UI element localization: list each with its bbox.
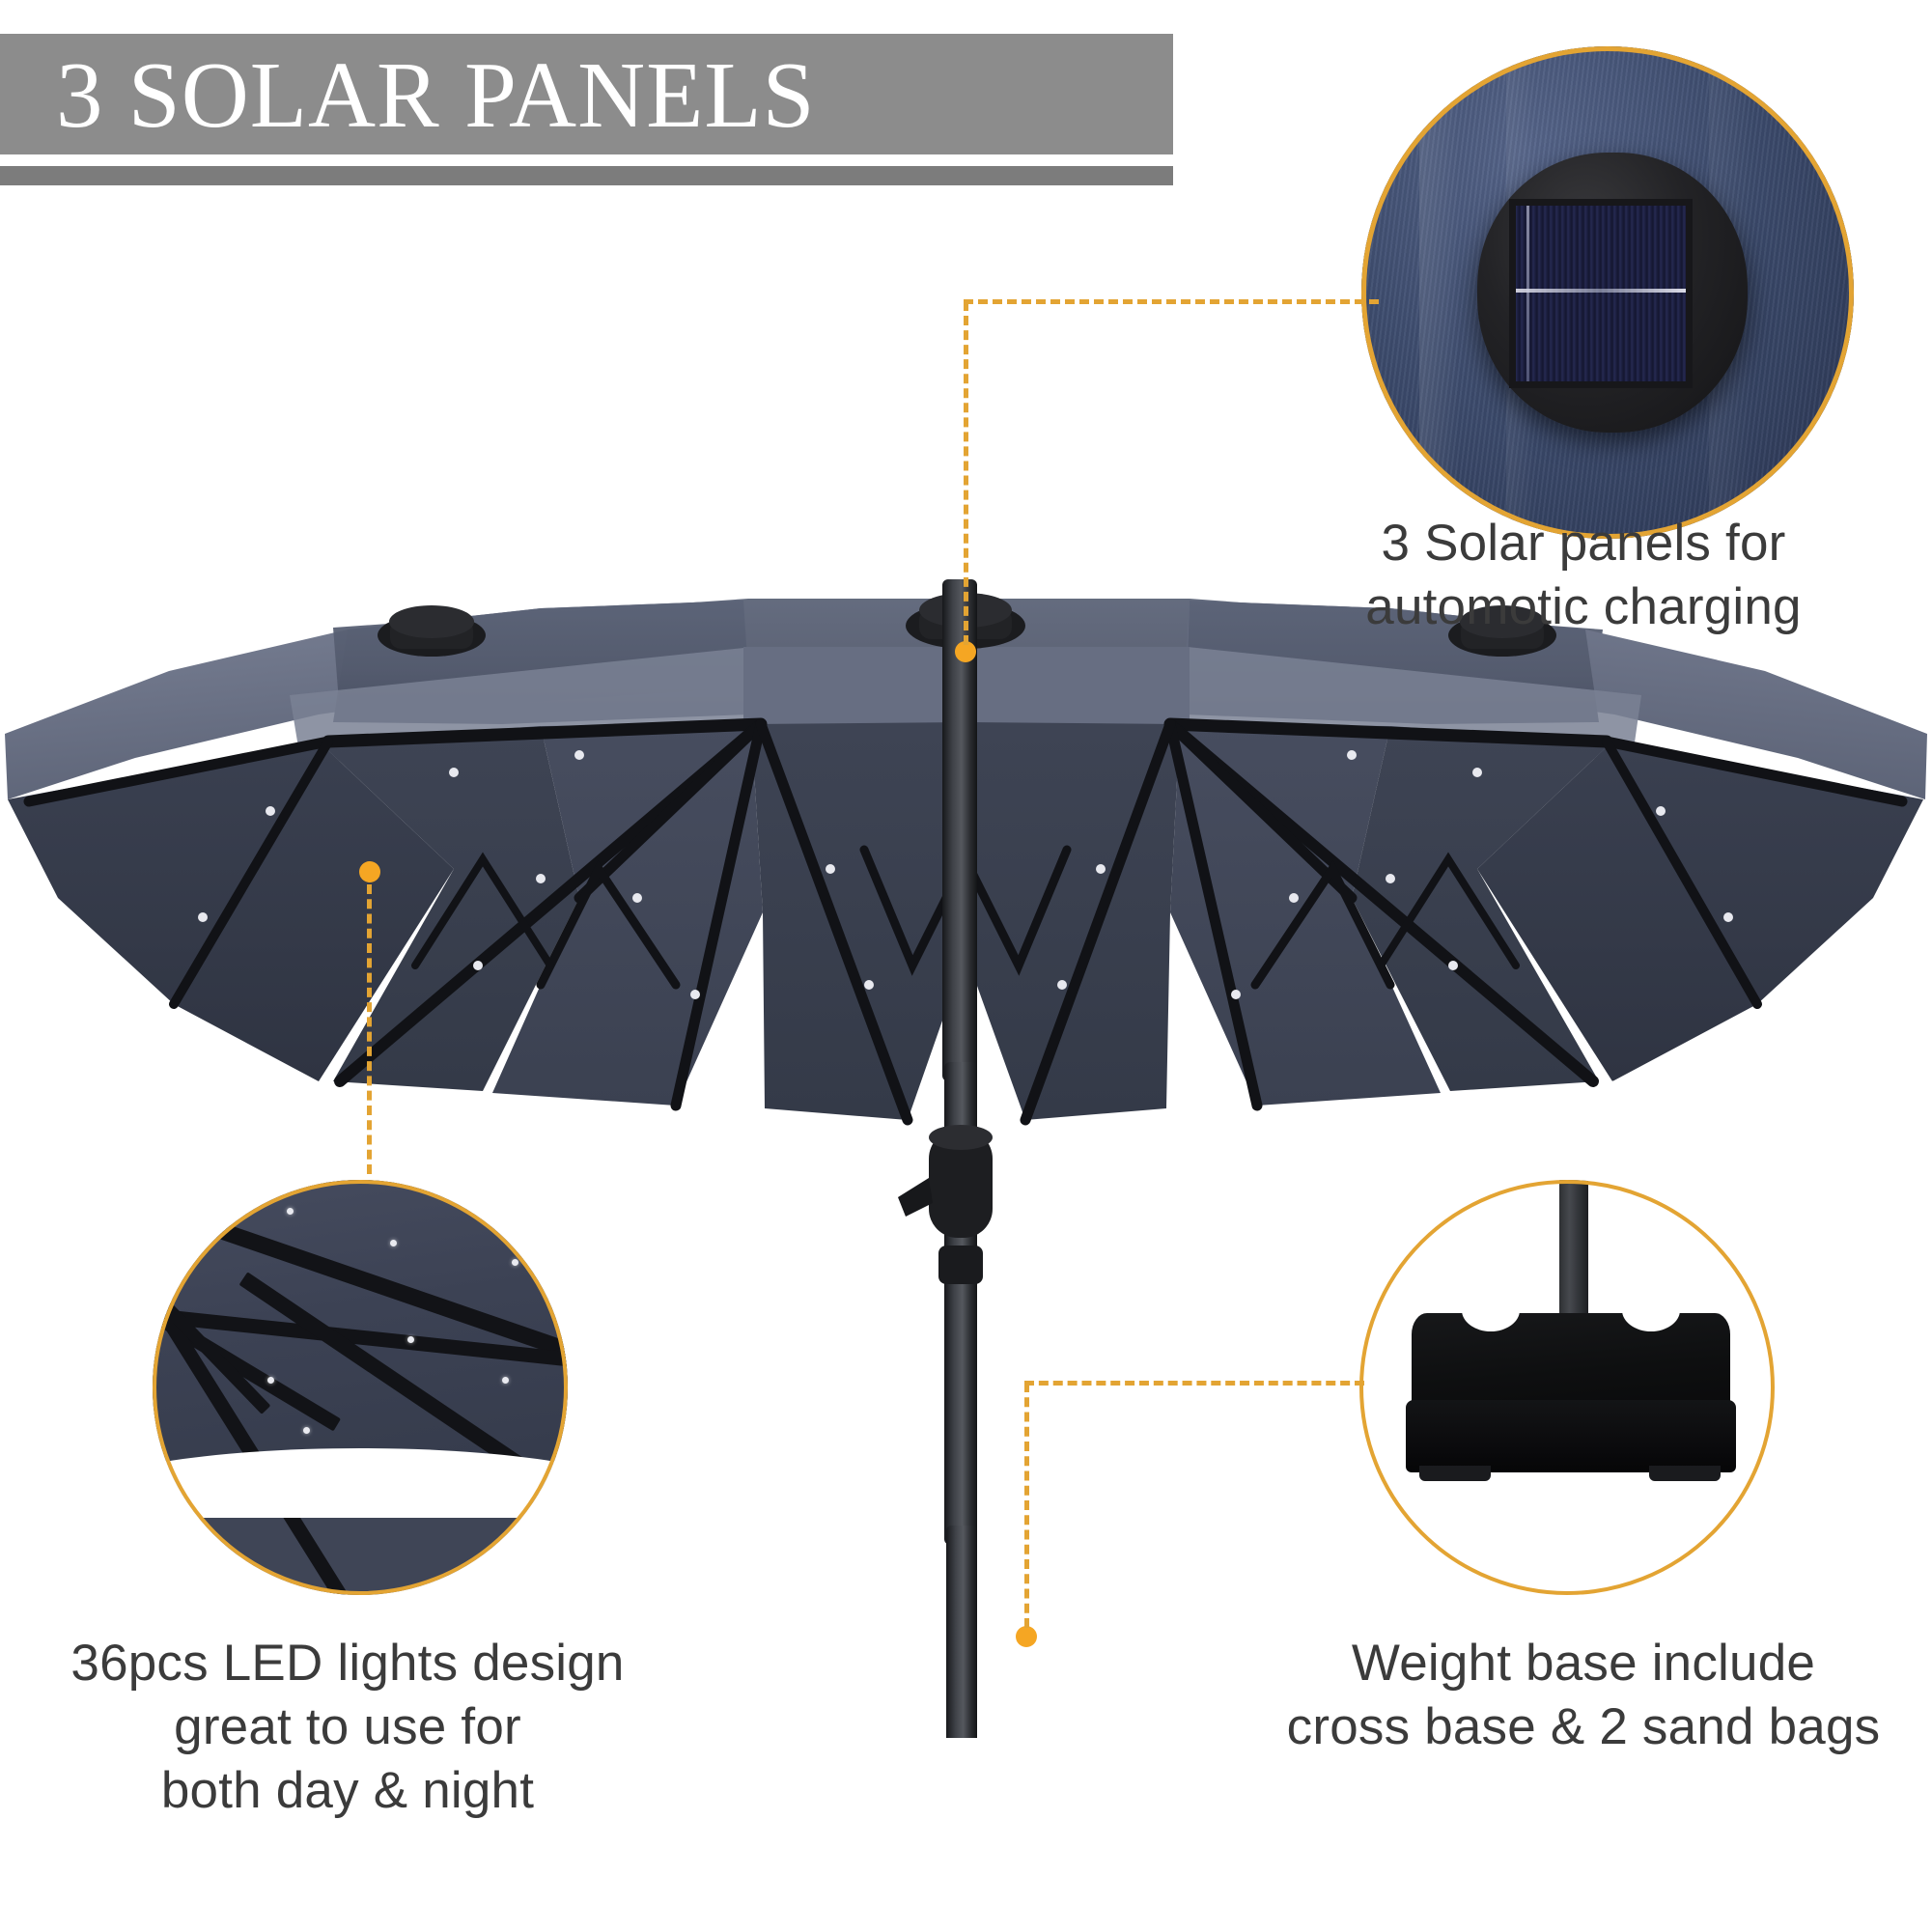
solar-busbar-horizontal xyxy=(1516,289,1686,293)
callout-circle-solar xyxy=(1361,46,1854,539)
dot-marker-base xyxy=(1016,1626,1037,1647)
infographic-page: 3 SOLAR PANELS xyxy=(0,0,1932,1932)
caption-base-line-2: cross base & 2 sand bags xyxy=(1236,1695,1931,1759)
base-notch xyxy=(1622,1310,1680,1331)
caption-solar-line-1: 3 Solar panels for xyxy=(1265,512,1902,575)
caption-solar-line-2: automotic charging xyxy=(1265,575,1902,639)
dot-marker-led xyxy=(359,861,380,882)
base-foot xyxy=(1649,1466,1721,1481)
base-notch xyxy=(1462,1310,1520,1331)
caption-base-line-1: Weight base include xyxy=(1236,1632,1931,1695)
connector-solar-vertical xyxy=(964,301,968,645)
led-light xyxy=(502,1377,509,1384)
connector-base-vertical xyxy=(1024,1383,1029,1628)
caption-solar: 3 Solar panels for automotic charging xyxy=(1265,512,1902,639)
caption-base: Weight base include cross base & 2 sand … xyxy=(1236,1632,1931,1759)
base-foot xyxy=(1419,1466,1491,1481)
caption-led-line-1: 36pcs LED lights design xyxy=(39,1632,657,1695)
solar-panel-housing xyxy=(1477,153,1748,433)
canopy-hem-cutout xyxy=(153,1448,568,1518)
connector-solar-horizontal xyxy=(964,299,1379,304)
page-title: 3 SOLAR PANELS xyxy=(56,39,1118,154)
canopy-underside-photo xyxy=(153,1180,568,1503)
callout-circle-base xyxy=(1359,1180,1775,1595)
led-light xyxy=(303,1427,310,1434)
solar-housing-left xyxy=(378,605,486,657)
caption-led: 36pcs LED lights design great to use for… xyxy=(39,1632,657,1823)
caption-led-line-3: both day & night xyxy=(39,1759,657,1823)
led-light xyxy=(287,1208,294,1215)
header-underbar xyxy=(0,166,1173,185)
weight-base-skirt xyxy=(1406,1400,1736,1472)
led-light xyxy=(512,1259,518,1266)
led-light xyxy=(390,1240,397,1246)
caption-led-line-2: great to use for xyxy=(39,1695,657,1759)
fabric-fold xyxy=(1419,46,1460,539)
connector-base-horizontal xyxy=(1024,1381,1364,1386)
callout-circle-led xyxy=(153,1180,568,1595)
solar-busbar-vertical xyxy=(1526,206,1529,381)
connector-led-vertical xyxy=(367,884,372,1174)
solar-panel-cell xyxy=(1509,199,1693,388)
